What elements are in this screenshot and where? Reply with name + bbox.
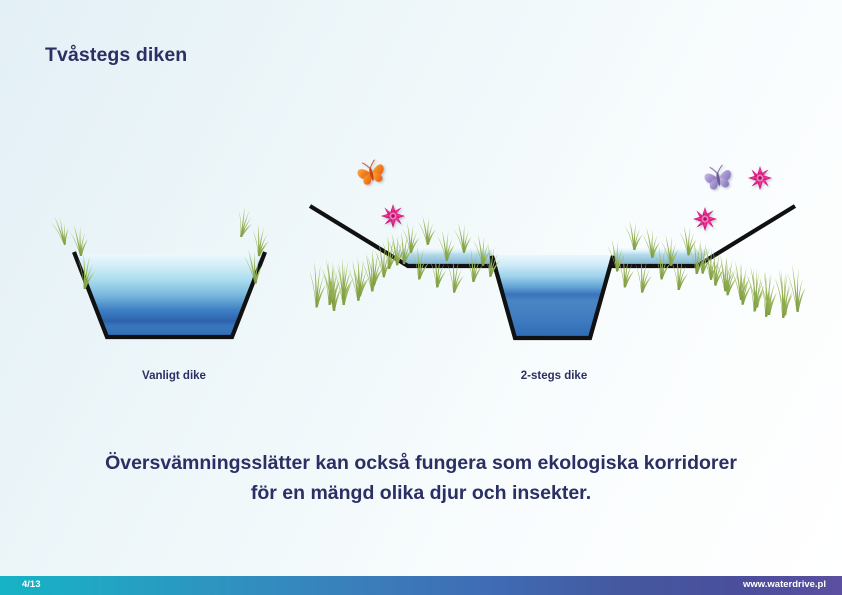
flower-pink-2 <box>693 207 717 231</box>
caption-line-1: Översvämningsslätter kan också fungera s… <box>61 448 781 478</box>
caption-block: Översvämningsslätter kan också fungera s… <box>61 448 781 508</box>
page-number: 4/13 <box>22 579 41 590</box>
flower-pink-1 <box>381 204 405 228</box>
footer-bar: 4/13 www.waterdrive.pl <box>0 576 842 595</box>
butterfly-purple-icon <box>703 164 733 191</box>
two-stage-ditch-label: 2-stegs dike <box>469 370 639 382</box>
plain-ditch-group <box>50 205 270 337</box>
caption-line-2: för en mängd olika djur och insekter. <box>61 478 781 508</box>
left-slope-grass <box>308 232 414 312</box>
plain-ditch-label: Vanligt dike <box>89 370 259 382</box>
right-slope-grass <box>694 240 806 318</box>
flower-pink-3 <box>748 166 772 190</box>
slide-canvas: Tvåstegs diken <box>0 0 842 595</box>
two-stage-ditch-group <box>308 158 806 338</box>
butterfly-orange-icon <box>355 158 386 186</box>
footer-url[interactable]: www.waterdrive.pl <box>743 579 826 590</box>
